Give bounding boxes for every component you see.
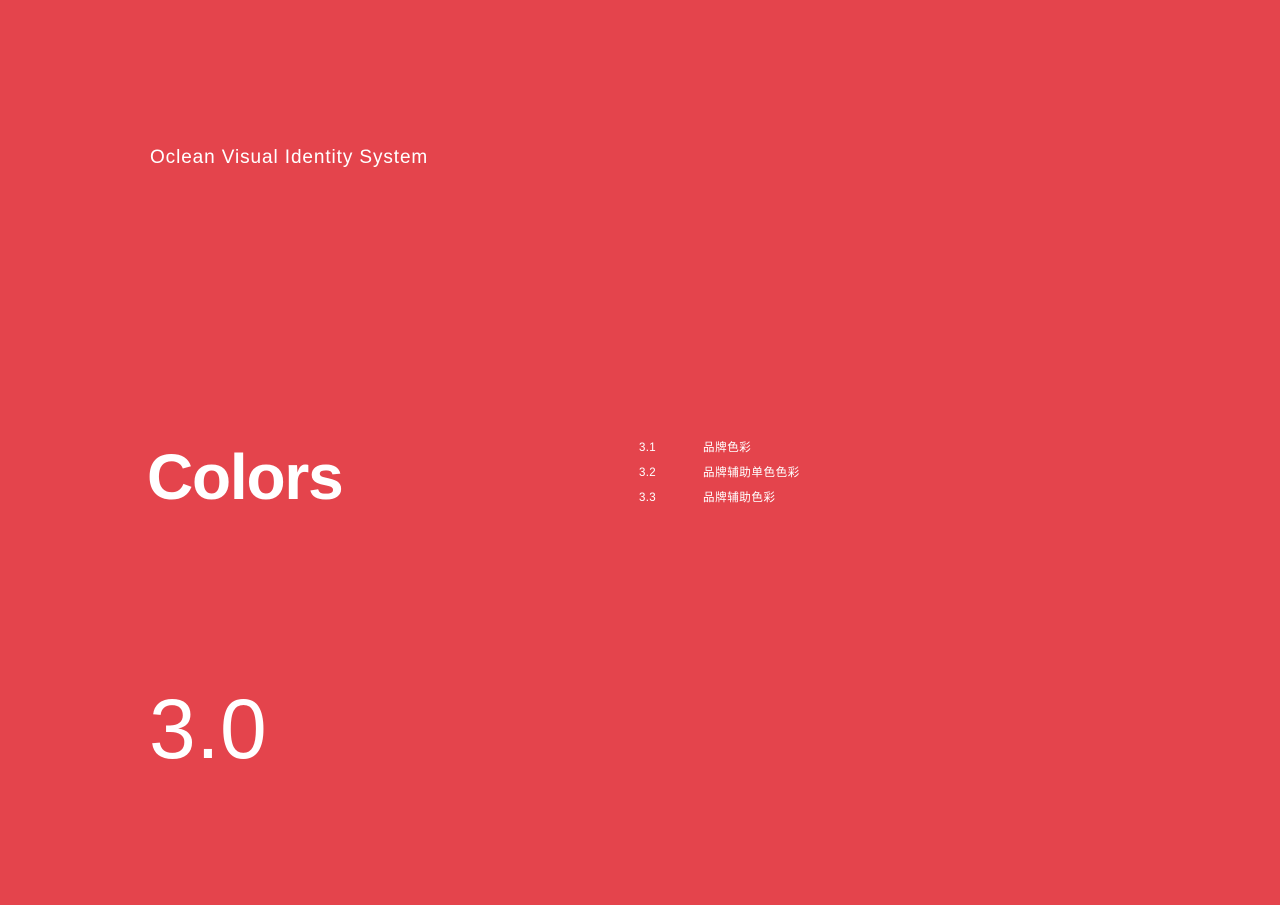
section-number: 3.0 <box>149 681 267 777</box>
toc-item-3-3[interactable]: 3.3 品牌辅助色彩 <box>639 490 999 515</box>
toc-item-3-1[interactable]: 3.1 品牌色彩 <box>639 440 999 465</box>
toc-item-number: 3.1 <box>639 440 703 456</box>
toc-item-number: 3.2 <box>639 465 703 481</box>
table-of-contents: 3.1 品牌色彩 3.2 品牌辅助单色色彩 3.3 品牌辅助色彩 <box>639 440 999 515</box>
page-title: Colors <box>147 442 343 512</box>
toc-item-3-2[interactable]: 3.2 品牌辅助单色色彩 <box>639 465 999 490</box>
slide-canvas: Oclean Visual Identity System Colors 3.1… <box>0 0 1280 905</box>
toc-item-label: 品牌辅助单色色彩 <box>703 465 800 481</box>
running-header-title: Oclean Visual Identity System <box>150 146 428 170</box>
toc-item-label: 品牌辅助色彩 <box>703 490 776 506</box>
toc-item-label: 品牌色彩 <box>703 440 751 456</box>
toc-item-number: 3.3 <box>639 490 703 506</box>
